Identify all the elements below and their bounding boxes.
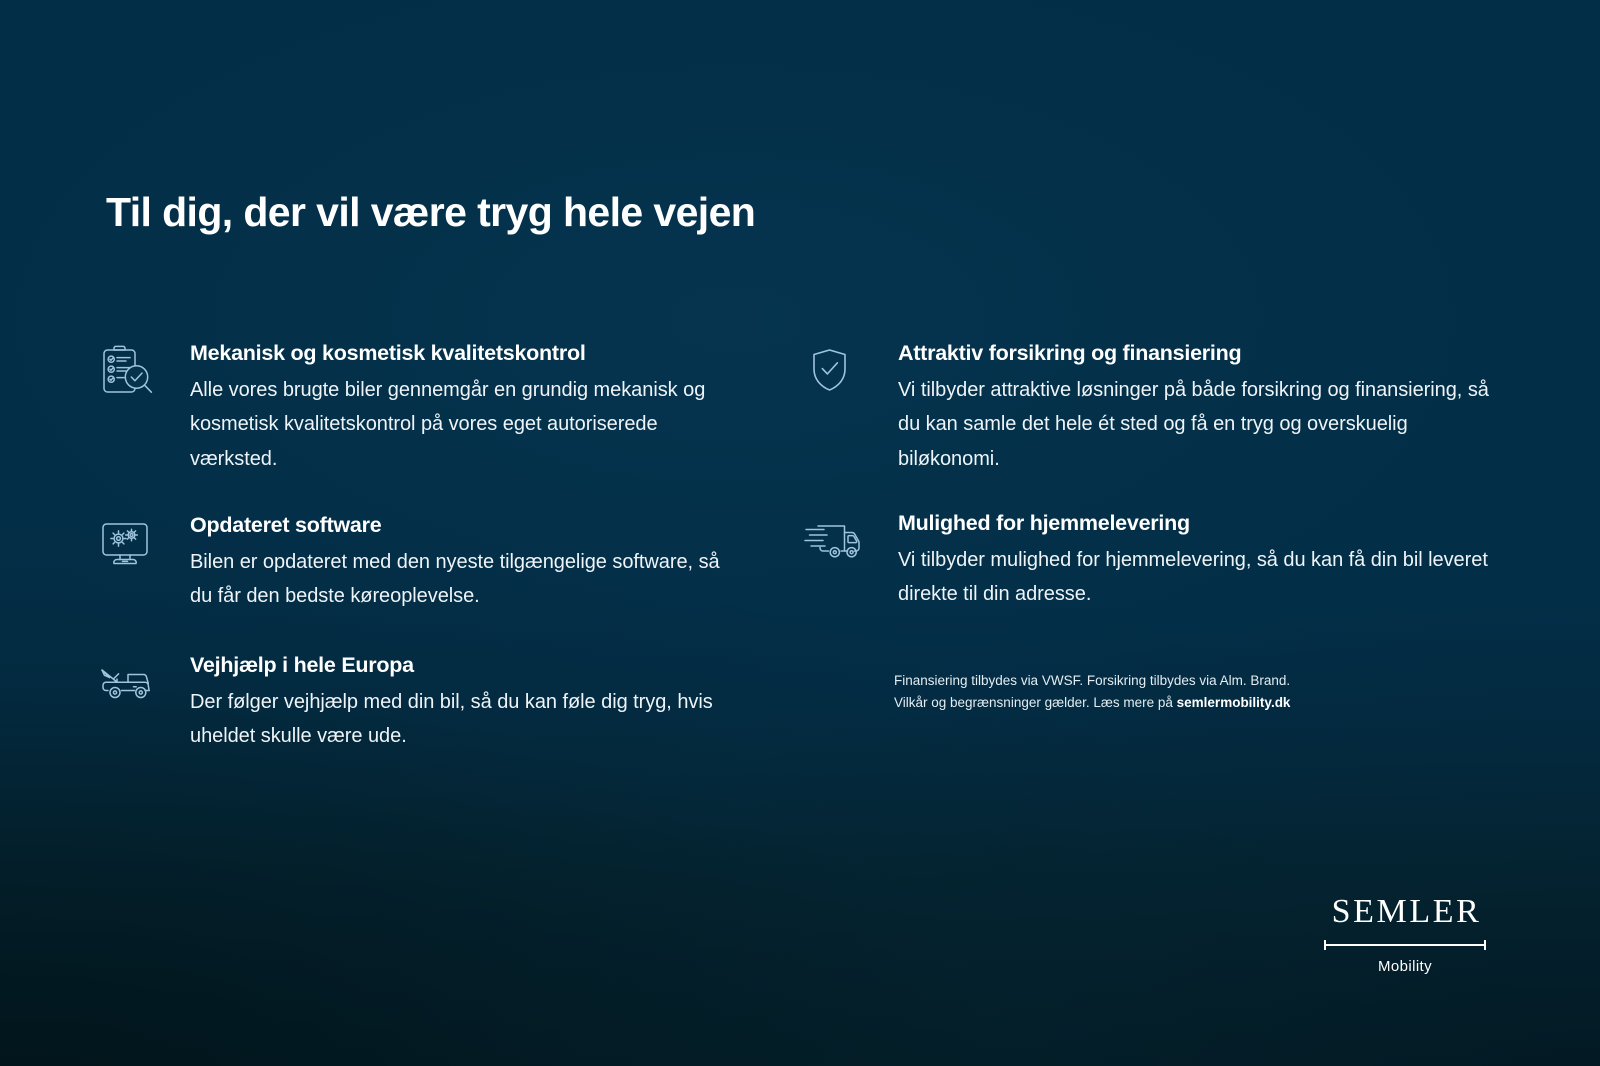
promo-slide: Til dig, der vil være tryg hele vejen: [0, 0, 1600, 1066]
feature-description: Der følger vejhjælp med din bil, så du k…: [190, 685, 738, 754]
semler-mobility-logo: SEMLER Mobility: [1324, 895, 1486, 974]
feature-item-quality-control: Mekanisk og kosmetisk kvalitetskontrol A…: [98, 340, 738, 476]
delivery-truck-icon: [804, 514, 866, 570]
logo-divider-rule: [1324, 940, 1486, 950]
disclaimer-line-1: Finansiering tilbydes via VWSF. Forsikri…: [894, 673, 1290, 688]
feature-item-home-delivery: Mulighed for hjemmelevering Vi tilbyder …: [800, 510, 1490, 612]
feature-title: Mekanisk og kosmetisk kvalitetskontrol: [190, 340, 738, 367]
disclaimer-line-2-prefix: Vilkår og begrænsninger gælder. Læs mere…: [894, 695, 1177, 710]
feature-title: Attraktiv forsikring og finansiering: [898, 340, 1490, 367]
feature-description: Vi tilbyder attraktive løsninger på både…: [898, 373, 1490, 476]
feature-description: Vi tilbyder mulighed for hjemmelevering,…: [898, 543, 1490, 612]
feature-title: Vejhjælp i hele Europa: [190, 652, 738, 679]
clipboard-check-magnifier-icon: [98, 344, 160, 400]
logo-subtitle: Mobility: [1324, 959, 1486, 974]
logo-rule-tick-left: [1324, 940, 1326, 950]
feature-description: Alle vores brugte biler gennemgår en gru…: [190, 373, 738, 476]
tow-truck-icon: [98, 656, 160, 712]
slide-content: Til dig, der vil være tryg hele vejen: [0, 0, 1600, 1066]
page-title: Til dig, der vil være tryg hele vejen: [106, 190, 755, 236]
feature-item-insurance-financing: Attraktiv forsikring og finansiering Vi …: [800, 340, 1490, 476]
shield-check-icon: [804, 344, 866, 400]
feature-title: Opdateret software: [190, 512, 738, 539]
feature-item-software: Opdateret software Bilen er opdateret me…: [98, 512, 738, 614]
disclaimer-text: Finansiering tilbydes via VWSF. Forsikri…: [894, 670, 1364, 714]
monitor-gears-icon: [98, 516, 160, 572]
feature-item-roadside-assistance: Vejhjælp i hele Europa Der følger vejhjæ…: [98, 652, 738, 754]
semlermobility-link[interactable]: semlermobility.dk: [1177, 695, 1291, 710]
feature-description: Bilen er opdateret med den nyeste tilgæn…: [190, 545, 738, 614]
logo-rule-tick-right: [1484, 940, 1486, 950]
feature-title: Mulighed for hjemmelevering: [898, 510, 1490, 537]
feature-column-right: Attraktiv forsikring og finansiering Vi …: [800, 340, 1490, 612]
feature-column-left: Mekanisk og kosmetisk kvalitetskontrol A…: [98, 340, 738, 753]
logo-wordmark: SEMLER: [1324, 895, 1486, 929]
